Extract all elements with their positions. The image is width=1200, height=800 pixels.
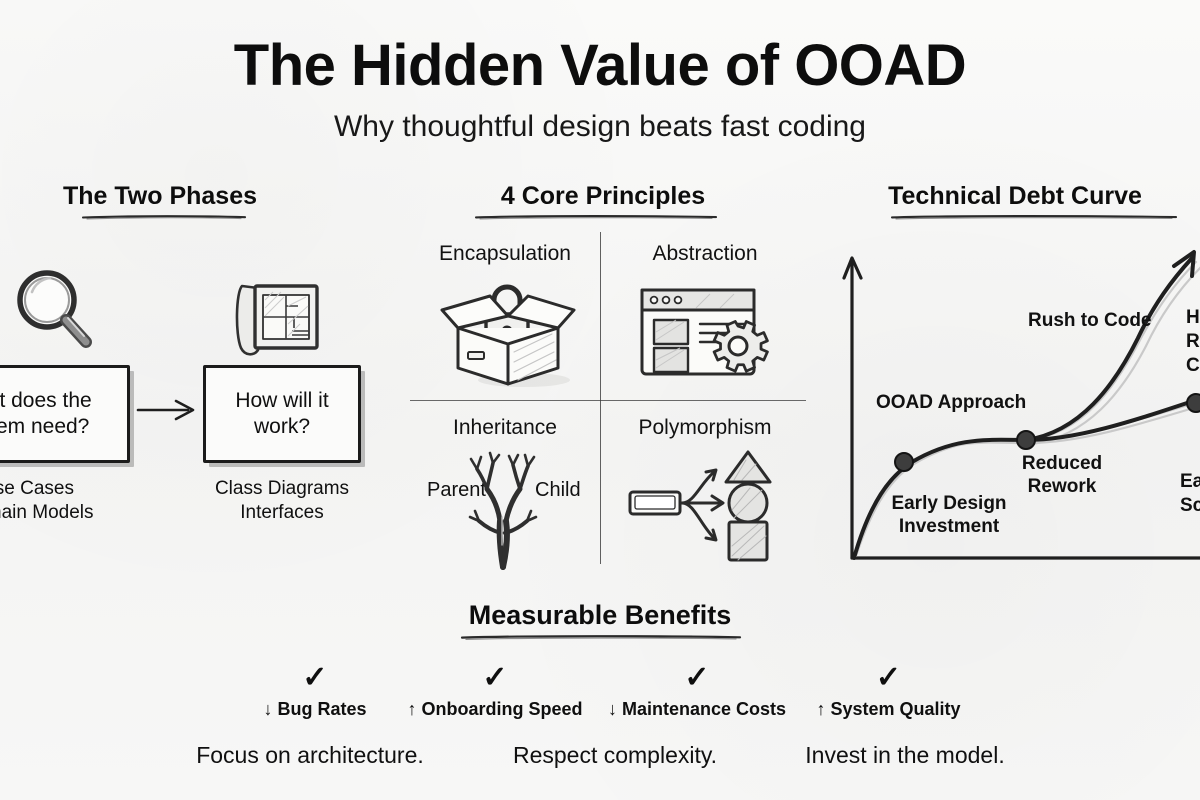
- footer-line-model: Invest in the model.: [775, 742, 1035, 769]
- chart-annotation-early-design-investment: Early Design Investment: [890, 492, 1008, 538]
- debt-chart-panel: Technical Debt Curve: [830, 182, 1200, 219]
- tree-icon: [455, 445, 551, 572]
- magnifier-icon: [4, 262, 104, 359]
- principles-heading-underline: [398, 214, 808, 219]
- principles-panel: 4 Core Principles: [398, 182, 808, 219]
- chart-annotation-reduced-rework: Reduced Rework: [1012, 452, 1112, 498]
- phases-panel: The Two Phases: [0, 182, 360, 219]
- chart-heading-underline: [830, 214, 1200, 219]
- annotation-line-1: Easier Scaling: [1180, 470, 1200, 518]
- benefit-label: ↓ Maintenance Costs: [602, 699, 792, 720]
- benefit-arrow-icon: ↓: [608, 699, 617, 719]
- quadrant-label-inheritance: Inheritance: [410, 416, 600, 440]
- chart-annotation-easier-scaling: Easier Scaling: [1180, 470, 1200, 518]
- phase-caption-line-1: Class Diagrams: [203, 477, 361, 501]
- benefit-arrow-icon: ↑: [816, 699, 825, 719]
- benefits-heading-underline: [400, 634, 800, 639]
- benefit-text: System Quality: [830, 699, 960, 719]
- benefit-label: ↑ System Quality: [806, 699, 971, 720]
- check-icon: ✓: [245, 663, 385, 693]
- phase-caption-line-1: Use Cases: [0, 477, 130, 501]
- poster-canvas: The Hidden Value of OOAD Why thoughtful …: [0, 0, 1200, 800]
- quadrant-divider-horizontal: [410, 400, 806, 401]
- phase-caption-line-2: Interfaces: [203, 501, 361, 525]
- chart-annotation-ooad-approach: OOAD Approach: [876, 392, 1026, 415]
- benefit-arrow-icon: ↓: [263, 699, 272, 719]
- benefit-label: ↑ Onboarding Speed: [400, 699, 590, 720]
- blueprint-icon: [228, 276, 336, 369]
- chart-annotation-rush-to-code: Rush to Code: [1028, 310, 1152, 333]
- phases-heading: The Two Phases: [0, 182, 360, 211]
- footer-line-architecture: Focus on architecture.: [180, 742, 440, 769]
- annotation-line-1: Early Design Investment: [890, 492, 1008, 538]
- check-icon: ✓: [400, 663, 590, 693]
- benefit-text: Onboarding Speed: [422, 699, 583, 719]
- quadrant-label-abstraction: Abstraction: [610, 242, 800, 266]
- benefit-item-onboarding-speed: ✓ ↑ Onboarding Speed: [400, 663, 590, 720]
- benefit-text: Maintenance Costs: [622, 699, 786, 719]
- check-icon: ✓: [806, 663, 971, 693]
- benefit-item-bug-rates: ✓ ↓ Bug Rates: [245, 663, 385, 720]
- principles-heading: 4 Core Principles: [398, 182, 808, 211]
- quadrant-label-encapsulation: Encapsulation: [410, 242, 600, 266]
- phase-box-design[interactable]: How will it work?: [203, 365, 361, 463]
- series-rush-to-code: [1026, 258, 1192, 440]
- window-with-gear-icon: [634, 282, 778, 393]
- page-subtitle: Why thoughtful design beats fast coding: [0, 110, 1200, 144]
- chart-node-early-design: [895, 453, 913, 471]
- shapes-arrows-icon: [628, 444, 790, 571]
- quadrant-divider-vertical: [600, 232, 601, 564]
- check-icon: ✓: [602, 663, 792, 693]
- chart-annotation-higher-rework-cost: Higher Rework Cost: [1186, 306, 1200, 377]
- benefits-panel: Measurable Benefits: [400, 600, 800, 639]
- phase-caption-design: Class Diagrams Interfaces: [203, 477, 361, 525]
- annotation-line-1: Higher Rework Cost: [1186, 306, 1200, 377]
- chart-heading: Technical Debt Curve: [830, 182, 1200, 211]
- benefit-label: ↓ Bug Rates: [245, 699, 385, 720]
- benefits-heading: Measurable Benefits: [400, 600, 800, 631]
- benefit-item-system-quality: ✓ ↑ System Quality: [806, 663, 971, 720]
- phase-caption-line-2: Domain Models: [0, 501, 130, 525]
- phase-box-discovery[interactable]: What does the system need?: [0, 365, 130, 463]
- quadrant-label-polymorphism: Polymorphism: [610, 416, 800, 440]
- footer-line-complexity: Respect complexity.: [485, 742, 745, 769]
- benefit-arrow-icon: ↑: [407, 699, 416, 719]
- phase-flow-arrow: [136, 394, 204, 431]
- benefit-text: Bug Rates: [278, 699, 367, 719]
- annotation-line-1: Reduced Rework: [1012, 452, 1112, 498]
- page-title: The Hidden Value of OOAD: [0, 36, 1200, 97]
- chart-node-reduced-rework: [1017, 431, 1035, 449]
- phases-heading-underline: [0, 214, 360, 219]
- benefit-item-maintenance-costs: ✓ ↓ Maintenance Costs: [602, 663, 792, 720]
- phase-caption-discovery: Use Cases Domain Models: [0, 477, 130, 525]
- chart-node-easier-scaling: [1187, 394, 1200, 412]
- box-with-lock-icon: [432, 272, 584, 395]
